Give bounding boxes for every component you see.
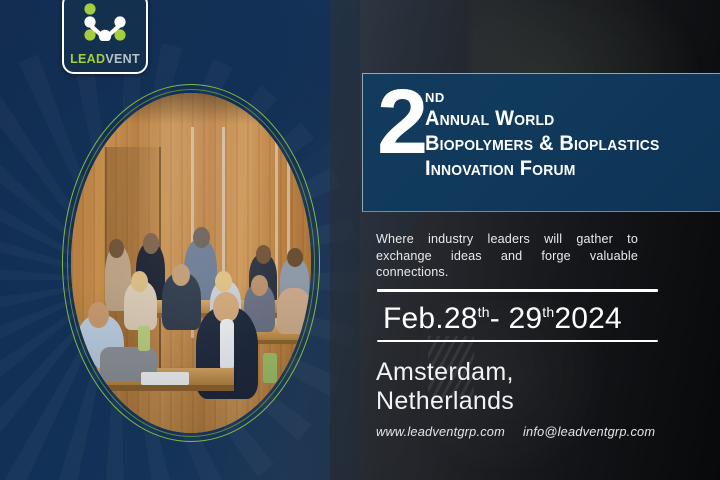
molecule-network-icon bbox=[79, 3, 131, 41]
location-city: Amsterdam, bbox=[376, 358, 676, 387]
event-location: Amsterdam, Netherlands bbox=[376, 358, 676, 416]
date-month: Feb. bbox=[383, 302, 444, 335]
event-title-block: 2 ND Annual World Biopolymers & Bioplast… bbox=[362, 73, 720, 212]
event-title-lines: Annual World Biopolymers & Bioplastics I… bbox=[425, 106, 715, 181]
photo-vignette bbox=[71, 93, 311, 433]
logo-wordmark: LEADVENT bbox=[64, 53, 146, 66]
location-country: Netherlands bbox=[376, 387, 676, 416]
date-day-start-suffix: th bbox=[478, 304, 490, 320]
event-title-line-2: Biopolymers & Bioplastics bbox=[425, 131, 695, 156]
event-tagline: Where industry leaders will gather to ex… bbox=[376, 231, 638, 281]
conference-photo bbox=[62, 84, 320, 442]
event-title-line-1: Annual World bbox=[425, 106, 695, 131]
date-year: 2024 bbox=[554, 302, 622, 335]
logo-lead-text: LEAD bbox=[70, 52, 105, 66]
event-banner: LEADVENT bbox=[0, 0, 720, 480]
footer-contacts: www.leadventgrp.cominfo@leadventgrp.com bbox=[376, 424, 706, 439]
edition-ordinal-suffix: ND bbox=[425, 90, 445, 105]
photo-image bbox=[71, 93, 311, 433]
date-rule-bottom bbox=[377, 340, 658, 343]
footer-website-link[interactable]: www.leadventgrp.com bbox=[376, 424, 505, 439]
date-day-end: 29 bbox=[508, 302, 542, 335]
date-day-start: 28 bbox=[444, 302, 478, 335]
edition-number: 2 bbox=[377, 80, 425, 165]
event-title-line-3: Innovation Forum bbox=[425, 156, 695, 181]
date-text: Feb.28th- 29th2024 bbox=[377, 292, 658, 338]
leadvent-logo[interactable]: LEADVENT bbox=[62, 0, 148, 74]
date-day-end-suffix: th bbox=[542, 304, 554, 320]
logo-vent-text: VENT bbox=[105, 52, 140, 66]
footer-email-link[interactable]: info@leadventgrp.com bbox=[523, 424, 655, 439]
date-dash: - bbox=[490, 302, 500, 335]
event-date: Feb.28th- 29th2024 bbox=[377, 289, 658, 342]
